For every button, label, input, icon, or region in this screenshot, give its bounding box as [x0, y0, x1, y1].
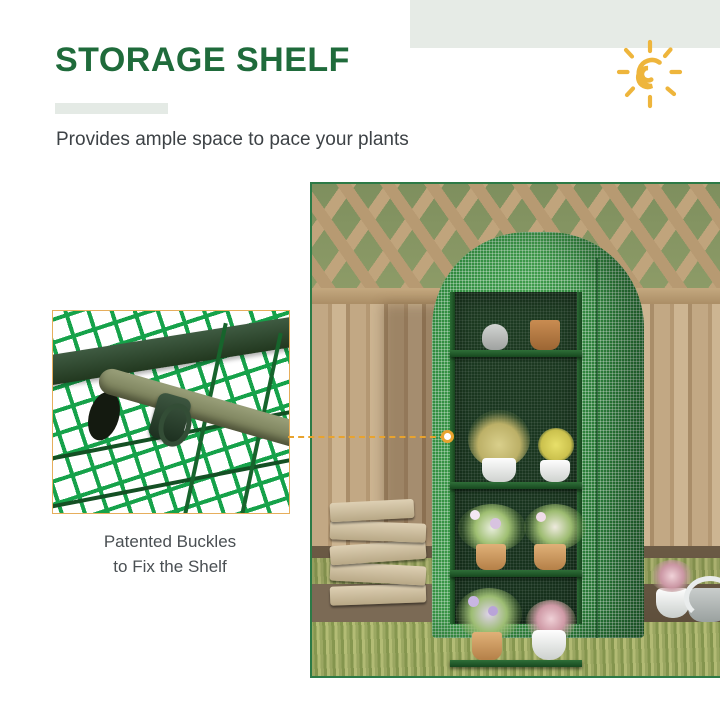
terracotta-pot-tier3-left: [476, 544, 506, 570]
shelf-tier-2: [450, 482, 582, 489]
watering-can: [682, 580, 720, 624]
greenhouse-unit: [432, 232, 644, 638]
garden-scene: [312, 184, 720, 676]
product-feature-canvas: STORAGE SHELF Provides ample space to pa…: [0, 0, 720, 720]
caption-line-2: to Fix the Shelf: [52, 555, 288, 580]
callout-dashed-line: [288, 436, 446, 438]
page-title: STORAGE SHELF: [55, 42, 350, 79]
shelf-tier-1: [450, 350, 582, 357]
product-photo: [310, 182, 720, 678]
shelf-tier-3: [450, 570, 582, 577]
white-pot-tier4: [532, 630, 566, 660]
gray-round-pot: [482, 324, 508, 350]
callout-target-dot: [441, 430, 454, 443]
title-divider: [55, 103, 168, 114]
caption-line-1: Patented Buckles: [52, 530, 288, 555]
detail-inset-photo: [52, 310, 290, 514]
page-subtitle: Provides ample space to pace your plants: [56, 128, 409, 153]
white-pot-succulent: [540, 460, 570, 482]
yellow-succulent: [538, 428, 574, 462]
terracotta-pot-tier3-right: [534, 544, 566, 570]
shelf-tier-4: [450, 660, 582, 667]
terracotta-pot-tier1: [530, 320, 560, 350]
detail-inset-caption: Patented Buckles to Fix the Shelf: [52, 530, 288, 579]
cover-seam: [596, 258, 598, 638]
white-pot-grass: [482, 458, 516, 482]
woodpile: [330, 496, 426, 604]
sun-icon: [612, 36, 688, 112]
buckle-closeup-scene: [53, 311, 289, 513]
terracotta-pot-tier4: [472, 632, 502, 660]
